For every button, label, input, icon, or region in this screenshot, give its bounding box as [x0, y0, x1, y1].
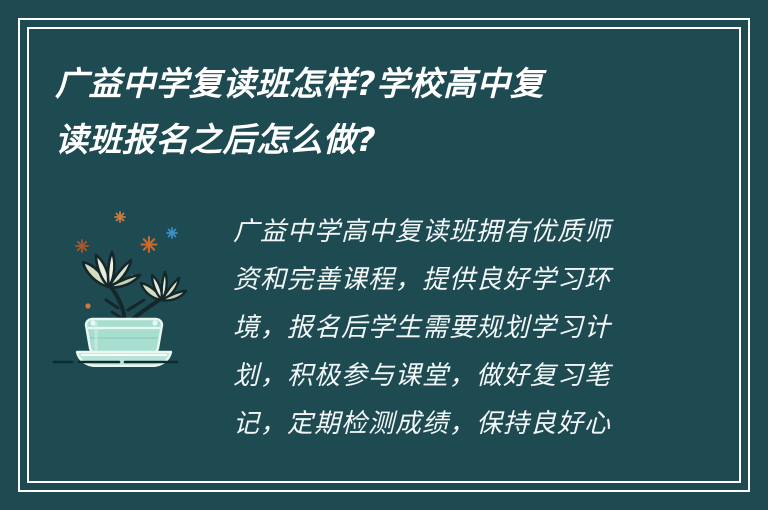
body-line-4: 划，积极参与课堂，做好复习笔 — [233, 352, 648, 400]
page-title: 广益中学复读班怎样?学校高中复 读班报名之后怎么做? — [55, 56, 655, 168]
title-line-2: 读班报名之后怎么做? — [55, 112, 655, 168]
body-line-1: 广益中学高中复读班拥有优质师 — [233, 208, 648, 256]
potted-plant-illustration — [52, 192, 212, 367]
body-line-3: 境，报名后学生需要规划学习计 — [233, 304, 648, 352]
flower-left — [83, 252, 140, 287]
body-line-2: 资和完善课程，提供良好学习环 — [233, 256, 648, 304]
body-line-5: 记，定期检测成绩，保持良好心 — [233, 400, 648, 448]
poster-canvas: 广益中学复读班怎样?学校高中复 读班报名之后怎么做? 广益中学高中复读班拥有优质… — [0, 0, 768, 510]
pot-saucer — [77, 352, 171, 366]
flower-right — [141, 272, 186, 301]
flower-pot — [86, 319, 162, 354]
body-paragraph: 广益中学高中复读班拥有优质师 资和完善课程，提供良好学习环 境，报名后学生需要规… — [233, 208, 648, 448]
title-line-1: 广益中学复读班怎样?学校高中复 — [55, 56, 655, 112]
